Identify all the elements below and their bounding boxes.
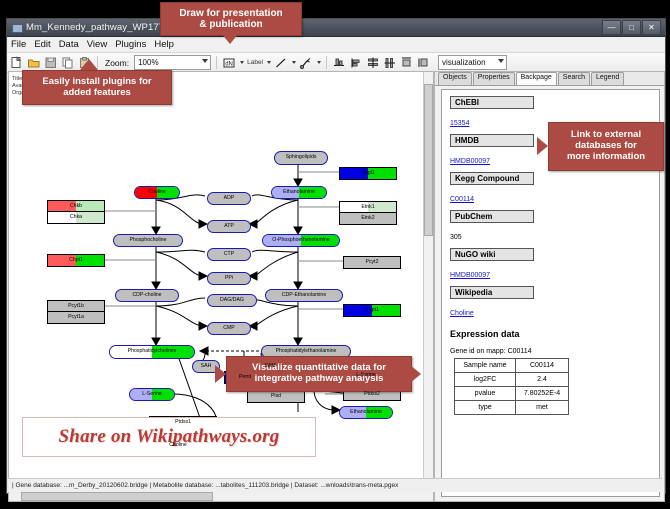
node-label: CDP-choline bbox=[132, 293, 161, 298]
expression-key: pvalue bbox=[455, 387, 516, 401]
node-label: Sgpl1 bbox=[361, 171, 374, 176]
visualization-combo[interactable]: visualization bbox=[438, 55, 507, 70]
node-label: Pcyt1b bbox=[68, 304, 84, 309]
gene-id-line: Gene id on mapp: C00114 bbox=[450, 348, 659, 355]
toolbar-separator bbox=[326, 56, 327, 69]
node-label: SAH bbox=[201, 364, 212, 369]
expression-table: Sample nameC00114log2FC2.4pvalue7.80252E… bbox=[454, 358, 569, 415]
callout-plugins-arrow bbox=[80, 59, 98, 70]
side-panel-tabs: ObjectsPropertiesBackpageSearchLegend bbox=[435, 72, 664, 86]
line-dropdown-icon[interactable] bbox=[292, 61, 296, 64]
db-value-hmdb[interactable]: HMDB00097 bbox=[450, 158, 490, 165]
close-button[interactable]: ✕ bbox=[642, 20, 661, 35]
expression-value: met bbox=[516, 401, 569, 415]
zoom-value: 100% bbox=[138, 58, 158, 67]
callout-link: Link to external databases for more info… bbox=[548, 122, 664, 171]
node-label: Pemt bbox=[239, 375, 251, 380]
db-header-nugo-wiki: NuGO wiki bbox=[450, 248, 534, 261]
window-buttons: — □ ✕ bbox=[602, 20, 661, 35]
metabolite-node-cdp-ethanolamine[interactable]: CDP-Ethanolamine bbox=[265, 289, 343, 302]
common-width-icon[interactable] bbox=[400, 56, 414, 70]
align-left-icon[interactable] bbox=[349, 56, 363, 70]
canvas-scrollbar-vertical[interactable] bbox=[423, 72, 433, 501]
gene-node-chka[interactable]: Chka bbox=[47, 211, 105, 224]
screenshot-root: Mm_Kennedy_pathway_WP1771_45176.gpml — □… bbox=[0, 0, 670, 509]
chevron-down-icon bbox=[498, 59, 504, 63]
expression-row: Sample nameC00114 bbox=[455, 359, 569, 373]
scrollbar-thumb-vertical[interactable] bbox=[424, 84, 433, 236]
menu-item-data[interactable]: Data bbox=[59, 39, 79, 50]
gene-node-chpt1[interactable]: Chpt1 bbox=[47, 254, 105, 267]
metabolite-node-phosphocholine[interactable]: Phosphocholine bbox=[113, 234, 183, 247]
metabolite-node-ethanolamine-bottom[interactable]: Ethanolamine bbox=[339, 406, 393, 419]
maximize-button[interactable]: □ bbox=[622, 20, 641, 35]
status-bar: | Gene database: ...m_Derby_20120602.bri… bbox=[8, 478, 662, 492]
callout-link-line3: more information bbox=[567, 152, 645, 163]
metabolite-node-ophosphoethanolamine[interactable]: O-Phosphoethanolamine bbox=[262, 234, 340, 247]
db-value-wikipedia[interactable]: Choline bbox=[450, 310, 474, 317]
expression-row: pvalue7.80252E-4 bbox=[455, 387, 569, 401]
callout-plugins-line2: added features bbox=[63, 88, 131, 99]
node-label: Ethanolamine bbox=[350, 410, 382, 415]
share-banner: Share on Wikipathways.org bbox=[22, 417, 316, 457]
node-label: SAM bbox=[264, 364, 275, 369]
callout-visualize-arrow bbox=[215, 365, 226, 383]
callout-draw-line2: & publication bbox=[199, 19, 262, 31]
gene-node-cept1[interactable]: Cept1 bbox=[343, 304, 401, 317]
menu-item-view[interactable]: View bbox=[87, 39, 107, 50]
metabolite-node-atp[interactable]: ATP bbox=[207, 220, 251, 233]
expression-row: log2FC2.4 bbox=[455, 373, 569, 387]
common-height-icon[interactable] bbox=[417, 56, 431, 70]
datanode-icon[interactable]: dN bbox=[222, 56, 236, 70]
new-file-icon[interactable] bbox=[10, 56, 24, 70]
node-label: Etnk2 bbox=[361, 216, 374, 221]
metabolite-node-ctp[interactable]: CTP bbox=[207, 248, 251, 261]
scrollbar-thumb-horizontal[interactable] bbox=[21, 492, 213, 501]
node-label: CMP bbox=[223, 326, 235, 331]
db-value-kegg-compound[interactable]: C00114 bbox=[450, 196, 474, 203]
expression-key: type bbox=[455, 401, 516, 415]
chevron-down-icon bbox=[202, 59, 208, 63]
copy-icon[interactable] bbox=[61, 56, 75, 70]
metabolite-node-l-serine-left[interactable]: L-Serine bbox=[129, 388, 175, 401]
toolbar-separator bbox=[216, 56, 217, 69]
metabolite-node-ppi[interactable]: PPi bbox=[207, 272, 251, 285]
expression-value: 7.80252E-4 bbox=[516, 387, 569, 401]
node-label: Pcyt1a bbox=[68, 315, 84, 320]
label-dropdown-icon[interactable] bbox=[267, 61, 271, 64]
node-label: Chka bbox=[70, 215, 82, 220]
node-label: Chpt1 bbox=[69, 258, 83, 263]
node-label: Chkb bbox=[70, 204, 82, 209]
callout-draw-arrow bbox=[221, 33, 239, 44]
db-value-row: C00114 bbox=[450, 188, 659, 210]
node-label: Ptdss2 bbox=[364, 392, 380, 397]
db-value-row: Choline bbox=[450, 302, 659, 324]
node-label: Pisd bbox=[271, 394, 281, 399]
distribute-horizontal-icon[interactable] bbox=[383, 56, 397, 70]
callout-draw: Draw for presentation & publication bbox=[160, 2, 302, 36]
db-header-kegg-compound: Kegg Compound bbox=[450, 172, 534, 185]
node-label: Choline bbox=[148, 190, 166, 195]
metabolite-node-adp[interactable]: ADP bbox=[207, 192, 251, 205]
node-label: Choline bbox=[169, 443, 187, 448]
status-text: | Gene database: ...m_Derby_20120602.bri… bbox=[8, 482, 398, 489]
minimize-button[interactable]: — bbox=[602, 20, 621, 35]
db-value-row: HMDB00097 bbox=[450, 264, 659, 286]
metabolite-node-cdp-choline[interactable]: CDP-choline bbox=[115, 289, 179, 302]
svg-text:dN: dN bbox=[225, 61, 233, 67]
db-header-hmdb: HMDB bbox=[450, 134, 534, 147]
menu-item-plugins[interactable]: Plugins bbox=[115, 39, 146, 50]
metabolite-node-ethanolamine[interactable]: Ethanolamine bbox=[271, 186, 327, 199]
expression-data-heading: Expression data bbox=[450, 329, 659, 339]
node-label: Phosphatidylethanolamine bbox=[276, 349, 337, 354]
db-header-pubchem: PubChem bbox=[450, 210, 534, 223]
node-label: Phosphatidylcholines bbox=[128, 349, 177, 354]
gene-node-etnk2[interactable]: Etnk2 bbox=[339, 212, 397, 225]
node-label: CTP bbox=[224, 252, 234, 257]
node-label: Pcyt2 bbox=[366, 260, 379, 265]
node-label: O-Phosphoethanolamine bbox=[272, 238, 329, 243]
align-top-icon[interactable] bbox=[332, 56, 346, 70]
db-value-row: 305 bbox=[450, 226, 659, 248]
menu-bar: File Edit Data View Plugins Help bbox=[7, 37, 665, 53]
gene-node-pcyt1a[interactable]: Pcyt1a bbox=[47, 311, 105, 324]
datanode-dropdown-icon[interactable] bbox=[240, 61, 244, 64]
metabolite-node-cmp[interactable]: CMP bbox=[207, 322, 251, 335]
node-label: DAG/DAG bbox=[220, 298, 244, 303]
tab-properties[interactable]: Properties bbox=[473, 72, 515, 85]
node-label: Cept1 bbox=[365, 308, 379, 313]
node-label: Sphingolipids bbox=[286, 155, 317, 160]
distribute-vertical-icon[interactable] bbox=[366, 56, 380, 70]
metabolite-node-sphingolipids[interactable]: Sphingolipids bbox=[274, 151, 328, 165]
metabolite-node-dagdag[interactable]: DAG/DAG bbox=[207, 294, 257, 307]
metabolite-node-choline-top[interactable]: Choline bbox=[134, 186, 180, 199]
zoom-combo[interactable]: 100% bbox=[134, 55, 211, 70]
callout-link-arrow bbox=[537, 137, 548, 155]
save-icon[interactable] bbox=[44, 56, 58, 70]
line-icon[interactable] bbox=[274, 56, 288, 70]
tab-backpage[interactable]: Backpage bbox=[516, 72, 557, 85]
zoom-label: Zoom: bbox=[105, 58, 129, 68]
node-label: CDP-Ethanolamine bbox=[282, 293, 326, 298]
callout-draw-line1: Draw for presentation bbox=[179, 8, 282, 20]
node-label: Etnk1 bbox=[361, 205, 374, 210]
expression-key: Sample name bbox=[455, 359, 516, 373]
node-label: Phosphocholine bbox=[130, 238, 167, 243]
tab-objects[interactable]: Objects bbox=[438, 72, 472, 85]
canvas-scrollbar-horizontal[interactable] bbox=[9, 491, 433, 501]
expression-value: C00114 bbox=[516, 359, 569, 373]
menu-item-edit[interactable]: Edit bbox=[34, 39, 50, 50]
node-label: Ptdss1 bbox=[175, 420, 191, 425]
callout-plugins: Easily install plugins for added feature… bbox=[22, 70, 172, 105]
tab-legend[interactable]: Legend bbox=[591, 72, 624, 85]
node-label: L-Serine bbox=[142, 392, 162, 397]
menu-item-file[interactable]: File bbox=[11, 39, 26, 50]
node-label: ADP bbox=[224, 196, 235, 201]
metabolite-node-phosphatidylcholines[interactable]: Phosphatidylcholines bbox=[109, 345, 195, 359]
db-header-wikipedia: Wikipedia bbox=[450, 286, 534, 299]
expression-row: typemet bbox=[455, 401, 569, 415]
callout-visualize: Visualize quantitative data for integrat… bbox=[226, 356, 412, 392]
open-folder-icon[interactable] bbox=[27, 56, 41, 70]
label-tool-label[interactable]: Label bbox=[247, 59, 263, 66]
expression-value: 2.4 bbox=[516, 373, 569, 387]
anchor-icon[interactable] bbox=[299, 56, 313, 70]
tab-search[interactable]: Search bbox=[558, 72, 590, 85]
callout-visualize-arrow-right bbox=[410, 365, 421, 383]
callout-plugins-line1: Easily install plugins for bbox=[42, 77, 151, 88]
db-value-chebi[interactable]: 15354 bbox=[450, 120, 469, 127]
db-header-chebi: ChEBI bbox=[450, 96, 534, 109]
expression-key: log2FC bbox=[455, 373, 516, 387]
anchor-dropdown-icon[interactable] bbox=[317, 61, 321, 64]
db-value-pubchem: 305 bbox=[450, 234, 462, 241]
db-value-nugo-wiki[interactable]: HMDB00097 bbox=[450, 272, 490, 279]
gene-node-pcyt2[interactable]: Pcyt2 bbox=[343, 256, 401, 269]
visualization-value: visualization bbox=[442, 58, 486, 67]
menu-item-help[interactable]: Help bbox=[154, 39, 174, 50]
app-icon bbox=[11, 22, 22, 33]
node-label: Ethanolamine bbox=[283, 190, 315, 195]
node-label: PPi bbox=[225, 276, 233, 281]
gene-node-sgpl1[interactable]: Sgpl1 bbox=[339, 167, 397, 180]
node-label: L-Serine bbox=[356, 373, 376, 378]
node-label: ATP bbox=[224, 224, 234, 229]
title-bar: Mm_Kennedy_pathway_WP1771_45176.gpml — □… bbox=[7, 19, 665, 37]
